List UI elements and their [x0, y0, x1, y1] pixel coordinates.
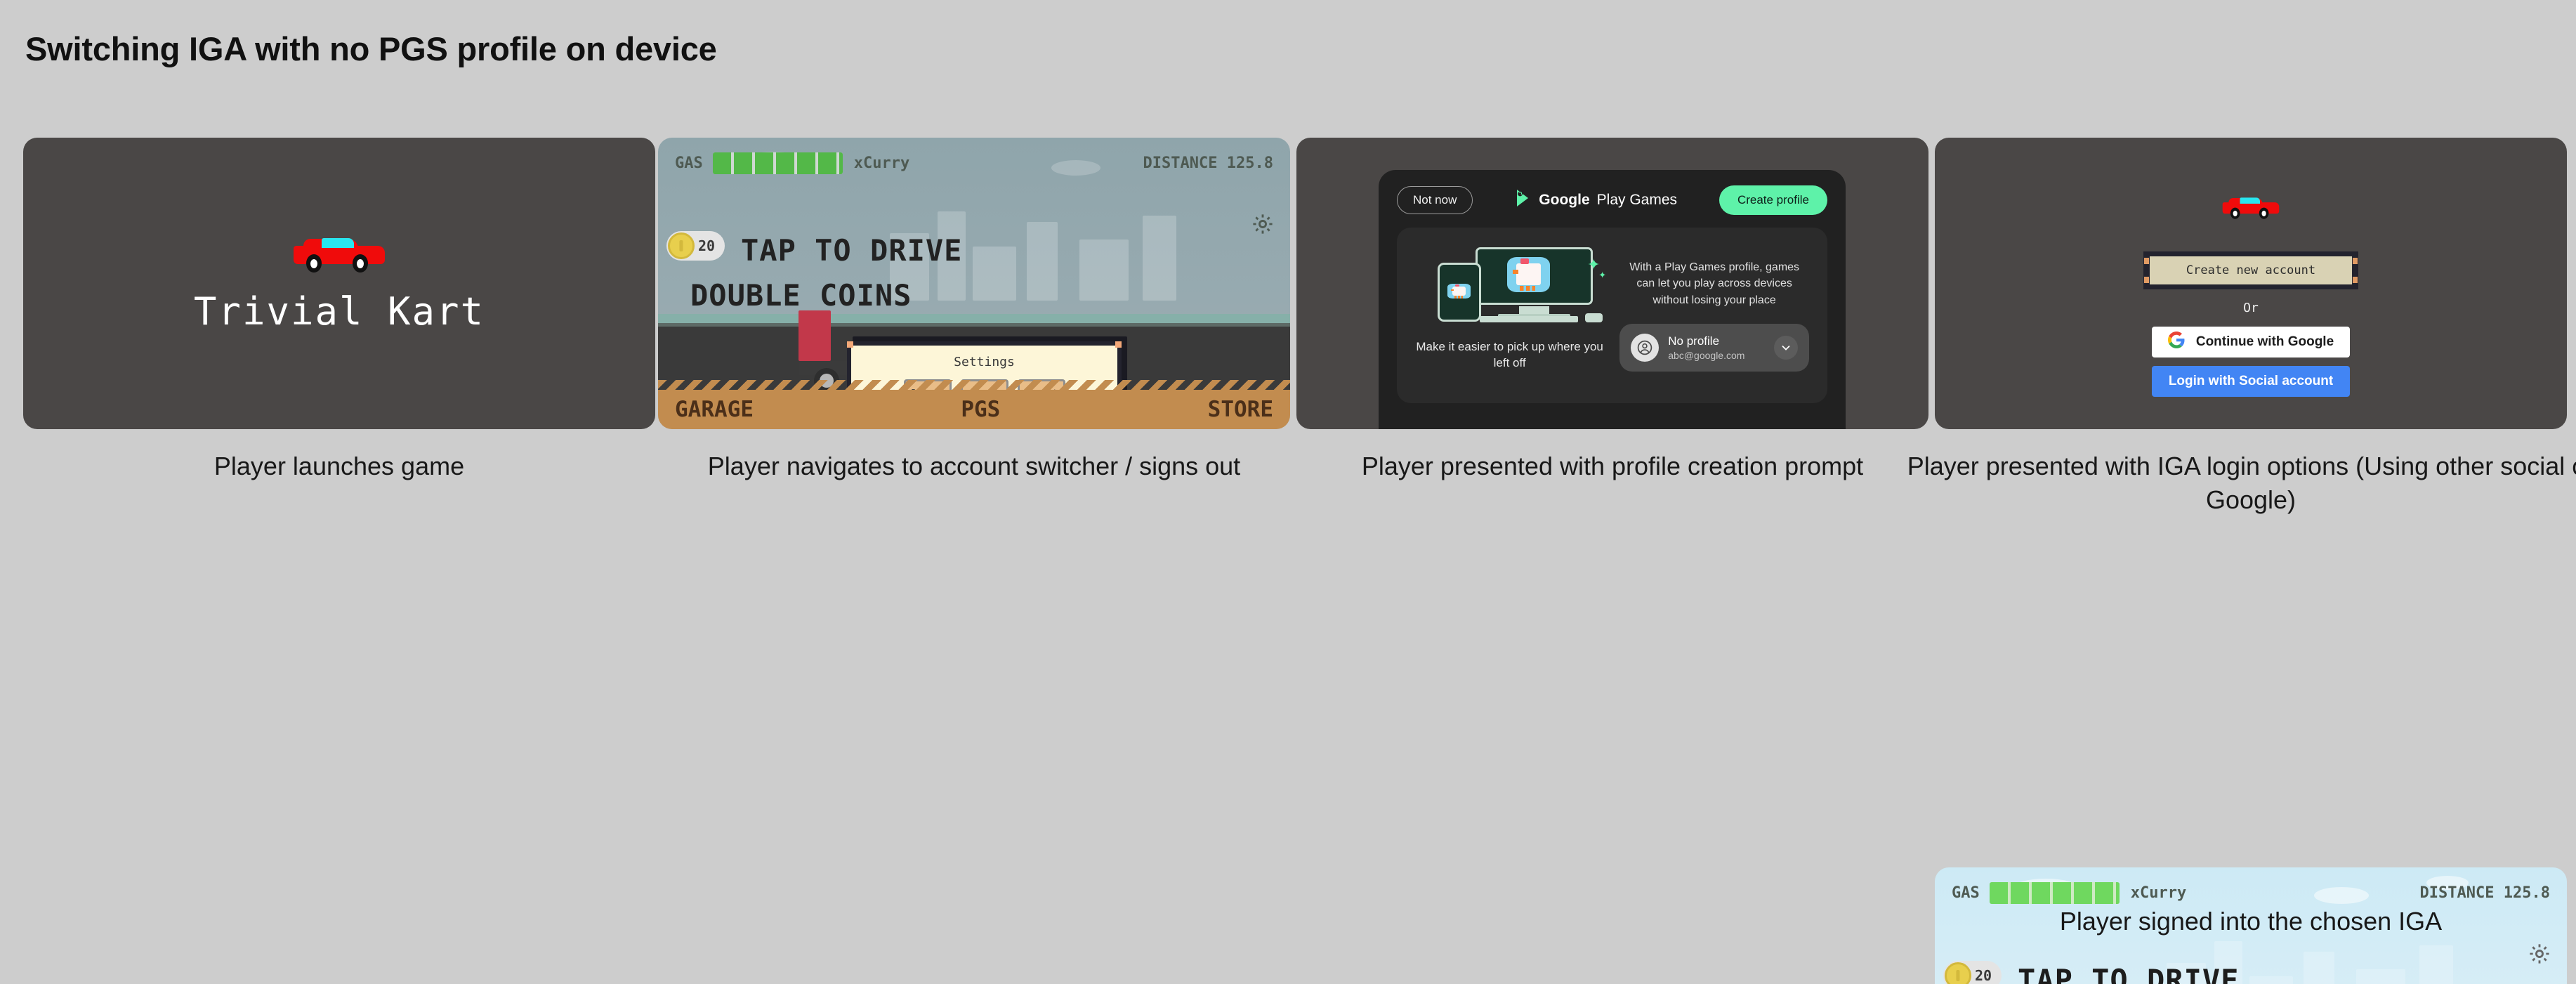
tap-to-drive-line-2: DOUBLE COINS [690, 278, 912, 313]
gas-label: GAS [1952, 884, 1980, 902]
gas-meter [713, 152, 843, 174]
continue-google-label: Continue with Google [2196, 334, 2334, 350]
page-title: Switching IGA with no PGS profile on dev… [25, 29, 717, 68]
pgs-description: With a Play Games profile, games can let… [1619, 259, 1809, 308]
gear-icon[interactable] [2528, 942, 2551, 966]
login-with-social-button[interactable]: Login with Social account [2152, 366, 2350, 397]
coin-icon [1945, 962, 1971, 984]
gas-meter [1990, 882, 2120, 904]
create-profile-button[interactable]: Create profile [1719, 185, 1827, 215]
username-label: xCurry [854, 155, 909, 172]
game-title: Trivial Kart [194, 289, 485, 334]
tap-to-drive-line-1: TAP TO DRIVE [2018, 963, 2239, 984]
chevron-down-icon[interactable] [1774, 336, 1798, 360]
pixel-car-icon [2219, 195, 2283, 220]
not-now-button[interactable]: Not now [1397, 186, 1473, 214]
tap-to-drive-line-1: TAP TO DRIVE [741, 233, 962, 268]
nav-store[interactable]: STORE [1208, 397, 1273, 422]
play-games-logo-icon [1515, 189, 1532, 211]
phone-icon [1438, 263, 1481, 322]
pgs-info-block: With a Play Games profile, games can let… [1619, 243, 1809, 388]
account-chip-text: No profile abc@google.com [1668, 334, 1765, 361]
chicken-game-icon [1507, 257, 1550, 292]
hud-top-row: GAS xCurry DISTANCE 125.8 [1935, 882, 2567, 904]
brand-google: Google [1539, 192, 1589, 209]
username-label: xCurry [2131, 884, 2186, 902]
pgs-body: ✦ ✦ Make it easier to pick up where you … [1397, 228, 1827, 403]
modal-title: Settings [954, 355, 1015, 369]
pgs-illustration-block: ✦ ✦ Make it easier to pick up where you … [1415, 243, 1604, 388]
nav-garage[interactable]: GARAGE [675, 397, 754, 422]
game-navbar: GARAGE PGS STORE [658, 390, 1290, 429]
profile-name: No profile [1668, 334, 1765, 348]
gas-label: GAS [675, 155, 703, 172]
keyboard-icon [1480, 316, 1578, 322]
avatar [1631, 334, 1659, 362]
nav-pgs[interactable]: PGS [961, 397, 1000, 422]
pgs-header: Not now Google Play Games Create profile [1397, 185, 1827, 215]
continue-with-google-button[interactable]: Continue with Google [2152, 327, 2350, 357]
hud-top-row: GAS xCurry DISTANCE 125.8 [658, 152, 1290, 174]
coin-icon [668, 232, 695, 259]
sparkle-icon-small: ✦ [1598, 270, 1606, 281]
account-selector-chip[interactable]: No profile abc@google.com [1619, 324, 1809, 372]
create-new-account-button[interactable]: Create new account [2150, 251, 2352, 289]
or-separator: Or [2243, 301, 2259, 315]
slide-canvas: Switching IGA with no PGS profile on dev… [0, 0, 2576, 984]
profile-email: abc@google.com [1668, 350, 1765, 361]
coin-counter: 20 [666, 231, 725, 261]
caption-login: Player presented with IGA login options … [1900, 450, 2576, 516]
panel-pgs-profile-prompt: Not now Google Play Games Create profile [1296, 138, 1928, 429]
panel-game-splash: Trivial Kart [23, 138, 655, 429]
panel-iga-login: Create new account Or Continue with Goog… [1935, 138, 2567, 429]
mouse-icon [1585, 313, 1602, 322]
caption-pgs: Player presented with profile creation p… [1296, 450, 1928, 483]
illustration-caption: Make it easier to pick up where you left… [1415, 339, 1604, 372]
monitor-icon [1476, 247, 1593, 305]
caption-splash: Player launches game [23, 450, 655, 483]
coin-counter: 20 [1943, 961, 2002, 984]
cross-device-illustration: ✦ ✦ [1415, 243, 1604, 331]
caption-settings: Player navigates to account switcher / s… [637, 450, 1311, 483]
panel-settings-modal: GAS xCurry DISTANCE 125.8 20 TAP TO DRIV… [658, 138, 1290, 429]
gear-icon[interactable] [1251, 212, 1275, 236]
google-g-icon [2168, 332, 2185, 353]
distance-readout: DISTANCE 125.8 [2420, 884, 2550, 902]
brand-play-games: Play Games [1597, 192, 1677, 209]
chicken-game-icon-small [1447, 284, 1470, 299]
caption-signed-in: Player signed into the chosen IGA [1935, 905, 2567, 938]
distance-readout: DISTANCE 125.8 [1143, 155, 1273, 172]
pgs-sheet: Not now Google Play Games Create profile [1379, 170, 1846, 429]
pixel-car-icon [288, 233, 390, 274]
google-play-games-brand: Google Play Games [1515, 189, 1677, 211]
